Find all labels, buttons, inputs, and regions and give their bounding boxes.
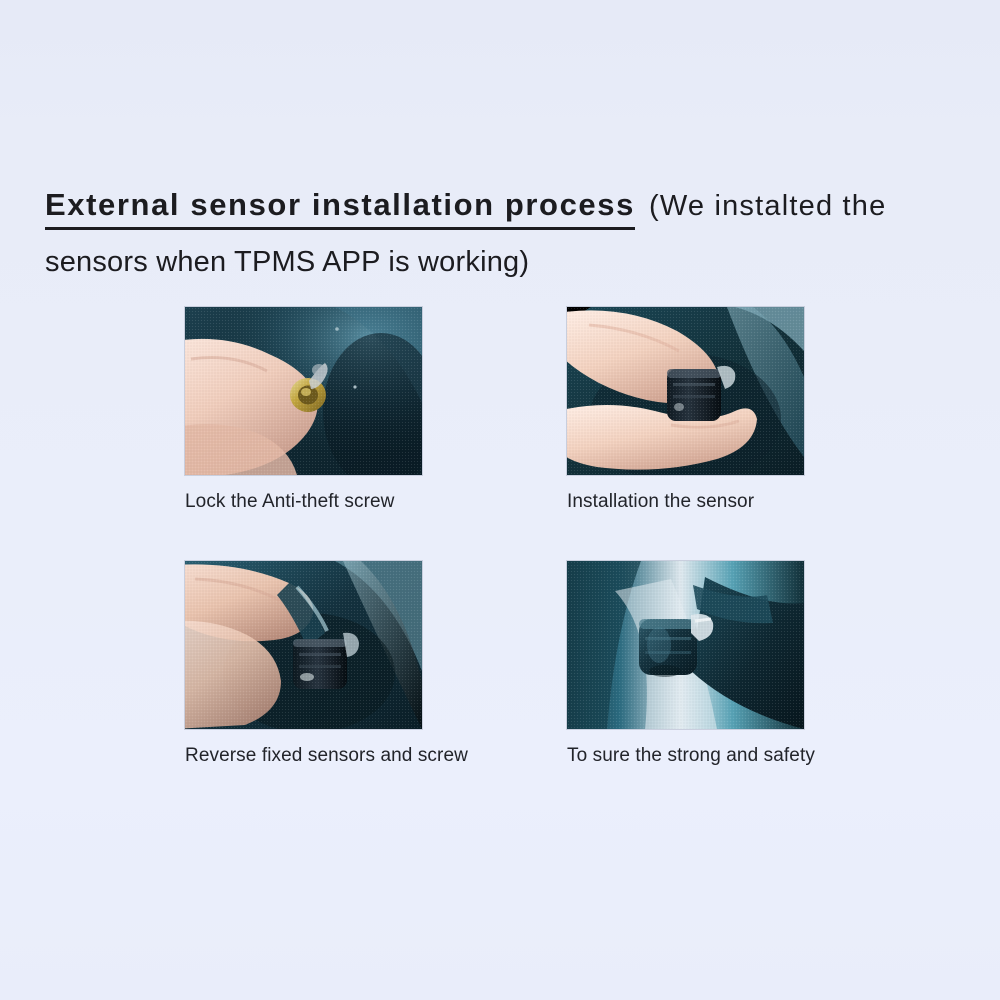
steps-row-bottom: Reverse fixed sensors and screw bbox=[185, 561, 805, 768]
steps-row-top: Lock the Anti-theft screw bbox=[185, 307, 805, 514]
page-title-line-2: sensors when TPMS APP is working) bbox=[45, 245, 970, 279]
step-photo-2 bbox=[567, 307, 804, 475]
installation-steps-grid: Lock the Anti-theft screw bbox=[185, 307, 805, 768]
heading-block: External sensor installation process(We … bbox=[45, 182, 970, 279]
page-title-remainder: (We instalted the bbox=[649, 190, 886, 222]
step-photo-3 bbox=[185, 561, 422, 729]
step-item-3: Reverse fixed sensors and screw bbox=[185, 561, 422, 768]
step-item-1: Lock the Anti-theft screw bbox=[185, 307, 422, 514]
step-photo-1 bbox=[185, 307, 422, 475]
step-caption-2: Installation the sensor bbox=[567, 490, 804, 514]
step-item-4: To sure the strong and safety bbox=[567, 561, 804, 768]
step-photo-4 bbox=[567, 561, 804, 729]
step-caption-4: To sure the strong and safety bbox=[567, 744, 804, 768]
heading-line-1: External sensor installation process(We … bbox=[45, 182, 970, 229]
page-title-emphasis: External sensor installation process bbox=[45, 187, 635, 230]
document-page: External sensor installation process(We … bbox=[0, 0, 1000, 1000]
step-caption-3: Reverse fixed sensors and screw bbox=[185, 744, 422, 768]
step-caption-1: Lock the Anti-theft screw bbox=[185, 490, 422, 514]
step-item-2: Installation the sensor bbox=[567, 307, 804, 514]
